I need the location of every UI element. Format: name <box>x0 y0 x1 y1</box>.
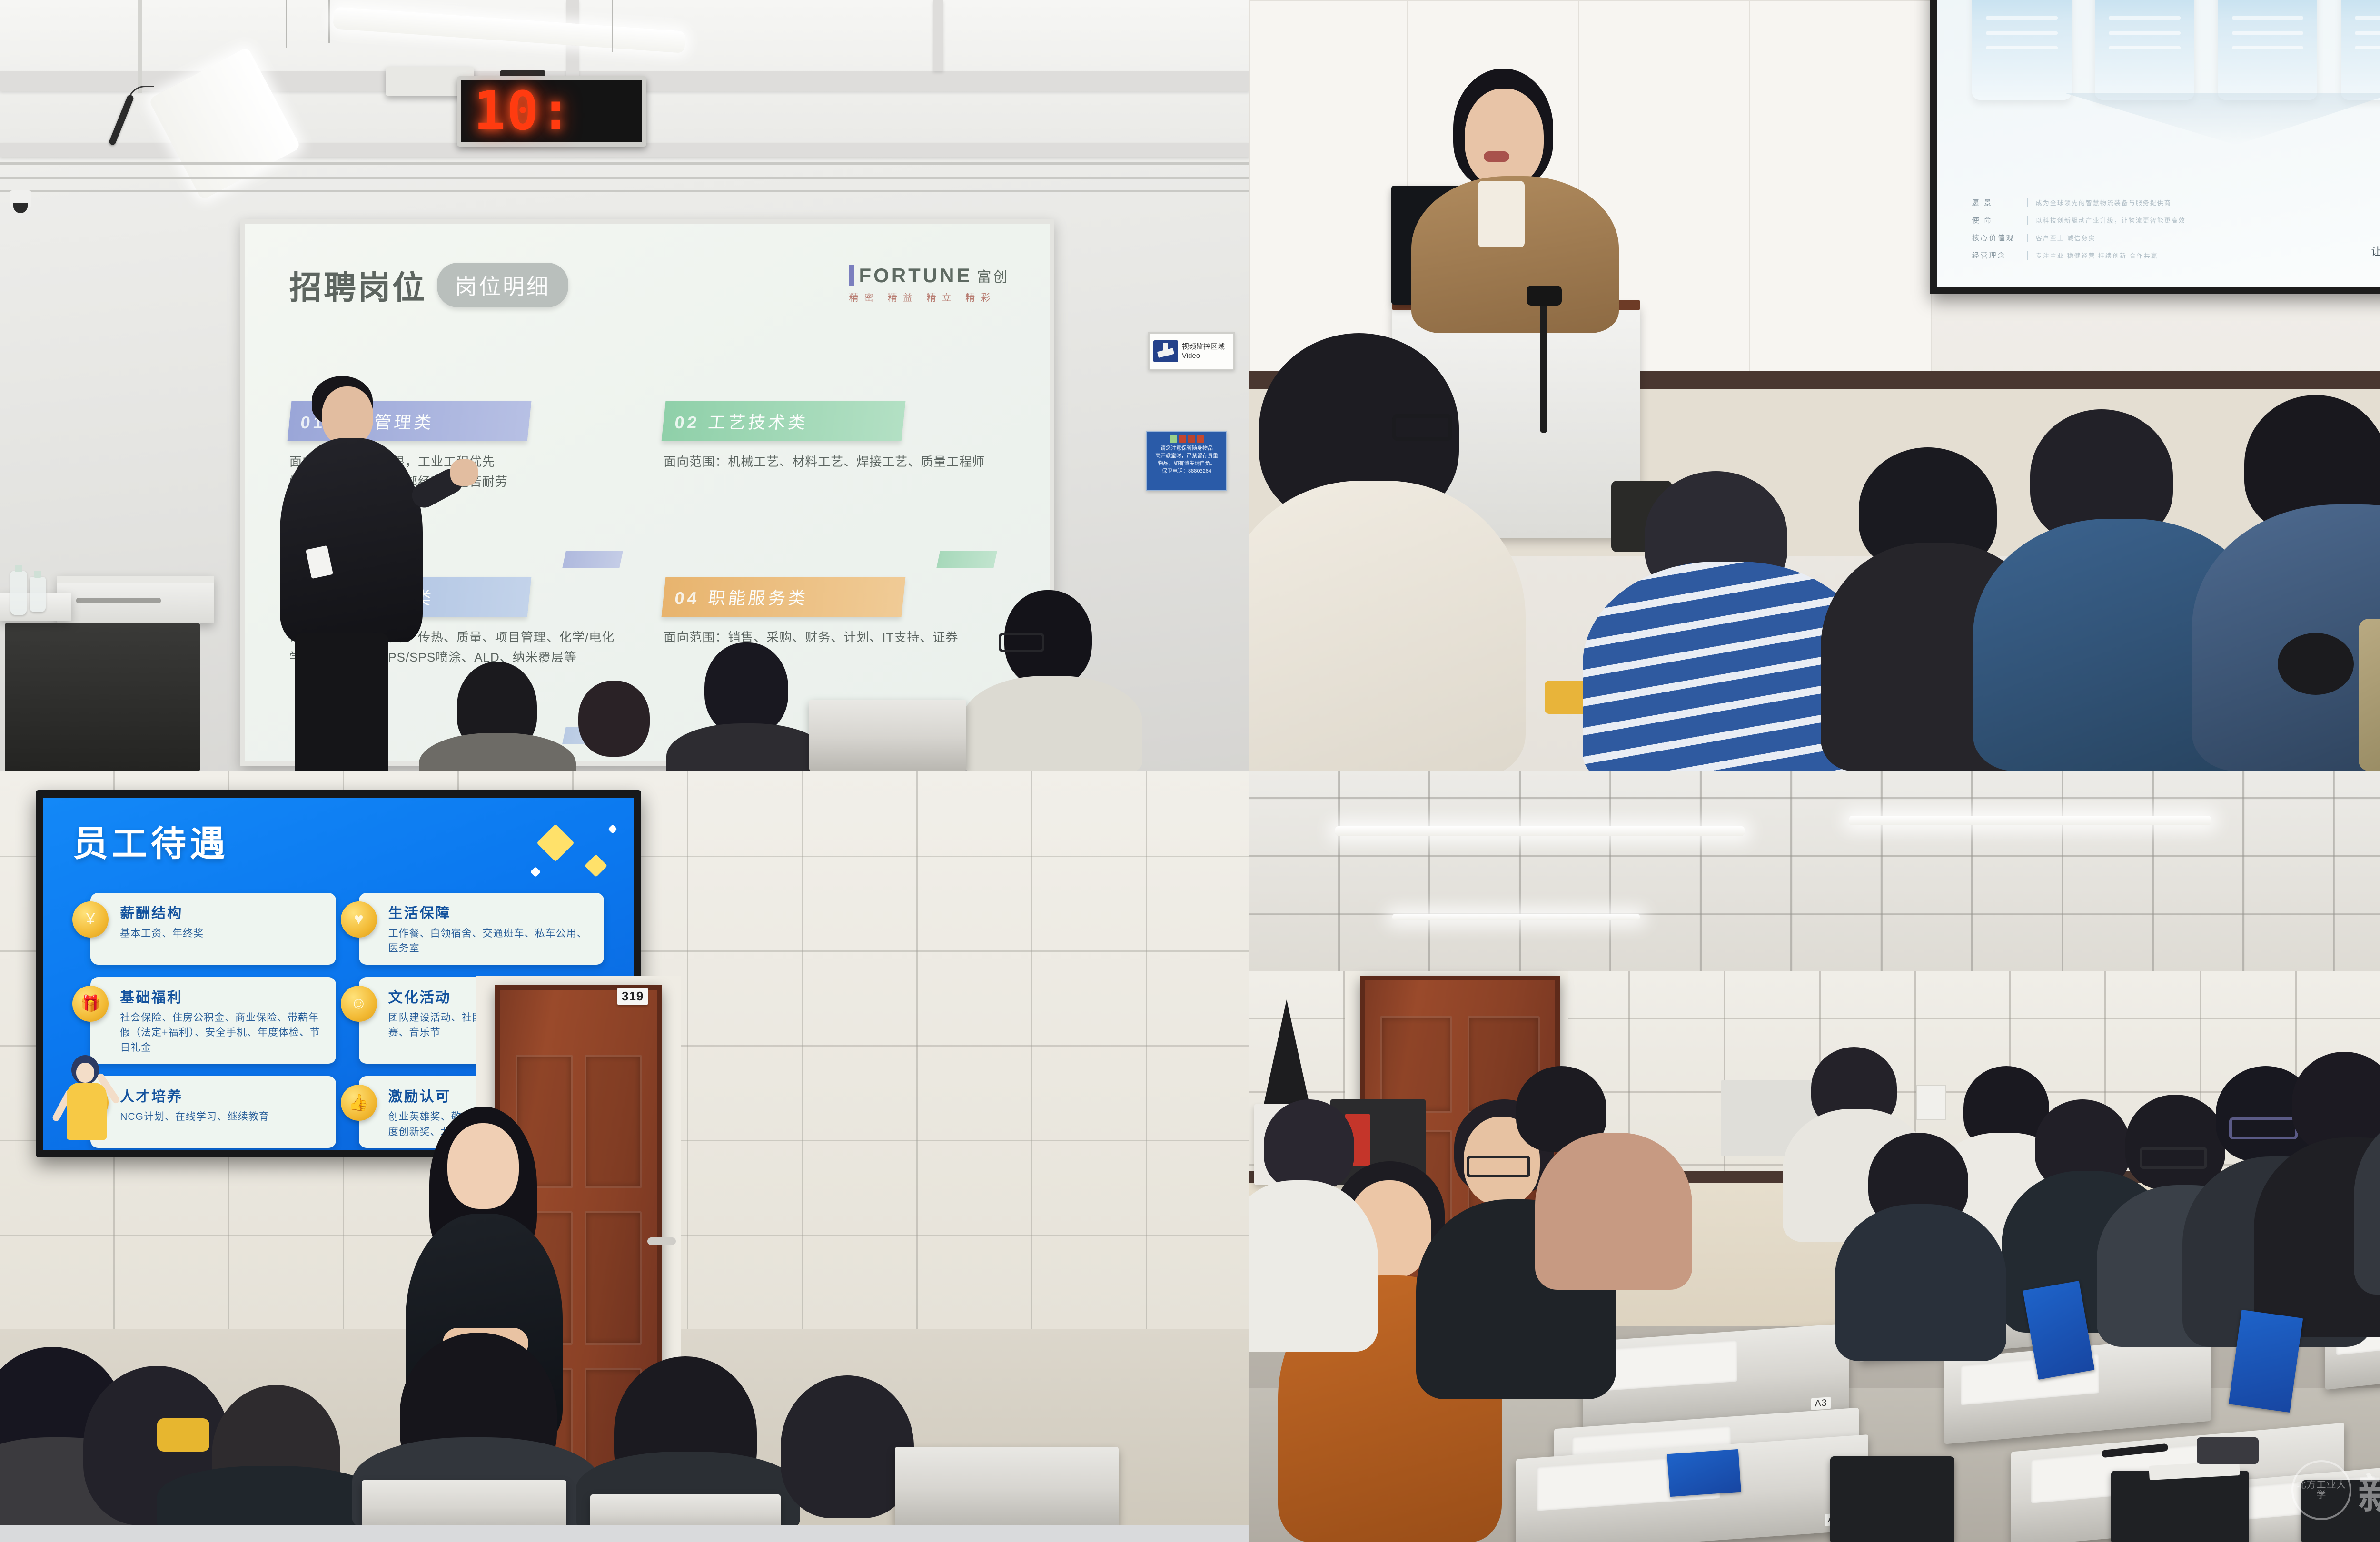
notice-icons <box>1151 435 1222 443</box>
slide-subtitle-pill: 岗位明细 <box>437 263 568 307</box>
recruitment-brochure <box>2229 1310 2303 1413</box>
benefit-title: 基础福利 <box>120 986 326 1007</box>
detail-value: 成为全球领先的智慧物流装备与服务提供商 <box>2036 198 2172 207</box>
photo-panel-top-left: 10: 招聘岗位 岗位明细 FORTUNE 富创 精密 精益 精立 精彩 <box>0 0 1249 771</box>
benefit-title: 生活保障 <box>388 901 595 922</box>
benefit-body: NCG计划、在线学习、继续教育 <box>120 1109 326 1125</box>
classroom-desk <box>590 1494 781 1525</box>
detail-key: 经营理念 <box>1972 250 2020 260</box>
logo-tagline: 精密 精益 精立 精彩 <box>849 290 1010 304</box>
detail-row: 使 命以科技创新驱动产业升级，让物流更智能更高效 <box>1972 215 2288 225</box>
detail-row: 经营理念专注主业 稳健经营 持续创新 合作共赢 <box>1972 250 2288 260</box>
detail-value: 以科技创新驱动产业升级，让物流更智能更高效 <box>2036 216 2186 225</box>
slogan-en: EASY <box>2371 222 2380 240</box>
presenter-mouth <box>1484 151 1509 162</box>
ceiling-grid <box>1249 771 2380 971</box>
wall-panel <box>1249 0 1408 373</box>
lectern-top <box>57 576 214 623</box>
water-bottle <box>30 577 46 612</box>
coin-icon: ¥ <box>72 901 109 938</box>
job-card-name: 职能服务类 <box>707 588 809 608</box>
notice-line: 物品。如有遗失请自负。 <box>1151 460 1222 468</box>
audience-shoulders <box>157 1466 381 1525</box>
slide-title: 员工待遇 <box>73 815 229 866</box>
student-jacket <box>1835 1204 2006 1361</box>
security-camera <box>10 190 31 208</box>
door-handle <box>647 1237 676 1245</box>
detail-key: 愿 景 <box>1972 198 2020 208</box>
detail-row: 核心价值观客户至上 诚信务实 <box>1972 233 2288 243</box>
job-card-name: 工艺技术类 <box>707 413 809 432</box>
audience-glasses <box>999 633 1044 652</box>
slogan-cn: 让万物移动更自由 <box>2371 243 2380 258</box>
smartphone <box>2197 1437 2259 1464</box>
benefit-body: 基本工资、年终奖 <box>120 926 326 941</box>
job-card-body: 面向范围：机械工艺、材料工艺、焊接工艺、质量工程师 <box>664 452 1009 472</box>
detail-value: 专注主业 稳健经营 持续创新 合作共赢 <box>2036 251 2158 260</box>
slide-title: 招聘岗位 <box>289 261 426 308</box>
sparkle-icon <box>536 824 574 861</box>
speaker-hand <box>450 459 478 486</box>
audience-shoulders <box>962 676 1142 771</box>
ceiling-light <box>1849 816 2211 825</box>
vision-card: 愿 景 <box>1972 0 2072 100</box>
speaker-legs <box>295 633 388 771</box>
notice-line: 请您注意保管随身物品 <box>1151 445 1222 453</box>
student-jacket <box>1535 1133 1692 1290</box>
microphone-head <box>1527 286 1562 306</box>
benefit-card: ♥ 生活保障 工作餐、白领宿舍、交通班车、私车公用、医务室 <box>359 893 604 965</box>
audience-hoodie <box>1249 481 1526 771</box>
logo-bar <box>849 265 854 286</box>
bottom-bar <box>0 1525 1249 1542</box>
audience-head <box>704 642 788 736</box>
classroom-desk <box>362 1480 566 1525</box>
presenter-inner-shirt <box>1478 181 1525 247</box>
recruitment-brochure <box>1667 1449 1741 1497</box>
light-chain <box>328 0 330 43</box>
gift-icon: 🎁 <box>72 986 109 1022</box>
benefit-card: 🎁 基础福利 社会保险、住房公积金、商业保险、带薪年假（法定+福利）、安全手机、… <box>90 977 336 1064</box>
decorative-fan <box>2066 93 2380 145</box>
classroom-desk <box>895 1447 1119 1525</box>
student-glasses <box>1467 1156 1530 1177</box>
watermark-text: 新闻网 <box>2358 1461 2380 1520</box>
video-surveillance-sign: 视频监控区域 Video <box>1148 332 1235 370</box>
student-shirt <box>1249 1180 1378 1352</box>
slide-title-row: 招聘岗位 岗位明细 <box>289 261 568 308</box>
sign-text: 视频监控区域 Video <box>1182 342 1225 361</box>
university-seal: 北方工业大学 <box>2291 1460 2351 1520</box>
chair <box>1830 1456 1954 1542</box>
sparkle-icon <box>585 854 607 877</box>
audience-glasses <box>1392 414 1452 441</box>
ceiling-light <box>1392 914 1640 920</box>
benefit-body: 社会保险、住房公积金、商业保险、带薪年假（法定+福利）、安全手机、年度体检、节日… <box>120 1010 326 1056</box>
photo-collage: 10: 招聘岗位 岗位明细 FORTUNE 富创 精密 精益 精立 精彩 <box>0 0 2380 1542</box>
slide-company-vision: 愿 景 使 命 价值观 战略 愿 景成为全球领先的智慧物流装备与服务提供商 使 … <box>1937 0 2380 287</box>
water-bottle <box>10 571 27 615</box>
logo-chinese-name: 富创 <box>977 265 1010 286</box>
notice-line: 离开教室时，严禁留存贵重 <box>1151 453 1222 460</box>
sparkle-icon <box>608 824 617 834</box>
speaker-head <box>322 386 373 445</box>
benefit-card: ¥ 薪酬结构 基本工资、年终奖 <box>90 893 336 965</box>
student-glasses <box>2229 1117 2298 1139</box>
vision-detail-rows: 愿 景成为全球领先的智慧物流装备与服务提供商 使 命以科技创新驱动产业升级，让物… <box>1972 198 2288 268</box>
job-card-number: 04 <box>674 588 701 608</box>
ceiling-beam <box>933 0 943 71</box>
job-card-tab <box>562 551 623 568</box>
projection-screen: 愿 景 使 命 价值观 战略 愿 景成为全球领先的智慧物流装备与服务提供商 使 … <box>1930 0 2380 294</box>
speaker-torso <box>280 438 423 642</box>
vision-card: 战略 <box>2341 0 2380 100</box>
student-head <box>1264 1099 1354 1190</box>
wall-rail <box>0 177 1249 179</box>
heart-icon: ♥ <box>341 901 377 938</box>
detail-row: 愿 景成为全球领先的智慧物流装备与服务提供商 <box>1972 198 2288 208</box>
photo-panel-top-right: 愿 景 使 命 价值观 战略 愿 景成为全球领先的智慧物流装备与服务提供商 使 … <box>1249 0 2380 771</box>
wall-panel <box>1749 0 1932 383</box>
coat-on-chair <box>2359 619 2380 771</box>
door-number: 319 <box>617 988 648 1005</box>
digital-wall-clock: 10: <box>457 76 646 147</box>
detail-value: 客户至上 诚信务实 <box>2036 233 2096 242</box>
mascot-illustration <box>55 1048 127 1150</box>
wall-rail <box>0 162 1249 165</box>
photo-panel-bottom-left: 员工待遇 ¥ 薪酬结构 基本工资、年终奖 ♥ 生活保障 工作餐、白领宿舍、交通班… <box>0 771 1249 1525</box>
detail-key: 核心价值观 <box>1972 233 2020 243</box>
benefit-title: 人才培养 <box>120 1085 326 1106</box>
camera-icon <box>1153 340 1178 362</box>
clock-digits: 10: <box>461 85 573 138</box>
presenter-head <box>447 1123 519 1209</box>
microphone-stand <box>1540 295 1547 433</box>
light-chain <box>286 0 287 48</box>
watermark: 北方工业大学 新闻网 <box>2291 1460 2380 1520</box>
photo-panel-bottom-right: A3 A7 A5 B6 B5 C11 <box>1249 771 2380 1542</box>
presenter-head <box>1465 89 1544 187</box>
chair <box>2111 1471 2249 1542</box>
light-chain <box>612 0 613 52</box>
audience-head <box>578 681 650 757</box>
smile-icon: ☺ <box>341 986 377 1022</box>
podium-cabinet <box>5 623 200 771</box>
benefit-card: ↗ 人才培养 NCG计划、在线学习、继续教育 <box>90 1076 336 1148</box>
snack-bag <box>157 1418 209 1452</box>
slide-slogan: EASY 让万物移动更自由 <box>2371 222 2380 258</box>
student-head <box>2125 1095 2225 1190</box>
benefit-title: 薪酬结构 <box>120 901 326 922</box>
notice-line: 保卫电话：88803264 <box>1151 468 1222 475</box>
logo-wordmark: FORTUNE <box>859 264 972 287</box>
thumbs-up-icon: 👍 <box>341 1085 377 1121</box>
wall-rail <box>0 190 1249 192</box>
company-logo: FORTUNE 富创 精密 精益 精立 精彩 <box>849 264 1010 304</box>
audience-head <box>781 1375 914 1518</box>
job-card-number: 02 <box>674 413 701 432</box>
benefit-body: 工作餐、白领宿舍、交通班车、私车公用、医务室 <box>388 926 595 956</box>
sparkle-icon <box>530 867 541 878</box>
vision-card: 价值观 <box>2218 0 2317 100</box>
job-card: 02工艺技术类 面向范围：机械工艺、材料工艺、焊接工艺、质量工程师 <box>664 401 1009 564</box>
desk-label: A3 <box>1811 1397 1830 1410</box>
detail-key: 使 命 <box>1972 215 2020 225</box>
backpack <box>2278 633 2354 695</box>
student-glasses <box>2140 1147 2207 1169</box>
mic-pole <box>138 0 142 93</box>
ceiling-light <box>1335 826 1745 836</box>
classroom-desk <box>809 700 966 771</box>
vision-card: 使 命 <box>2095 0 2194 100</box>
safety-notice-sign: 请您注意保管随身物品 离开教室时，严禁留存贵重 物品。如有遗失请自负。 保卫电话… <box>1146 431 1227 491</box>
job-card-body: 面向范围：销售、采购、财务、计划、IT支持、证券 <box>664 627 1009 647</box>
light-switch <box>1916 1085 1946 1120</box>
job-card-tab <box>937 551 998 568</box>
